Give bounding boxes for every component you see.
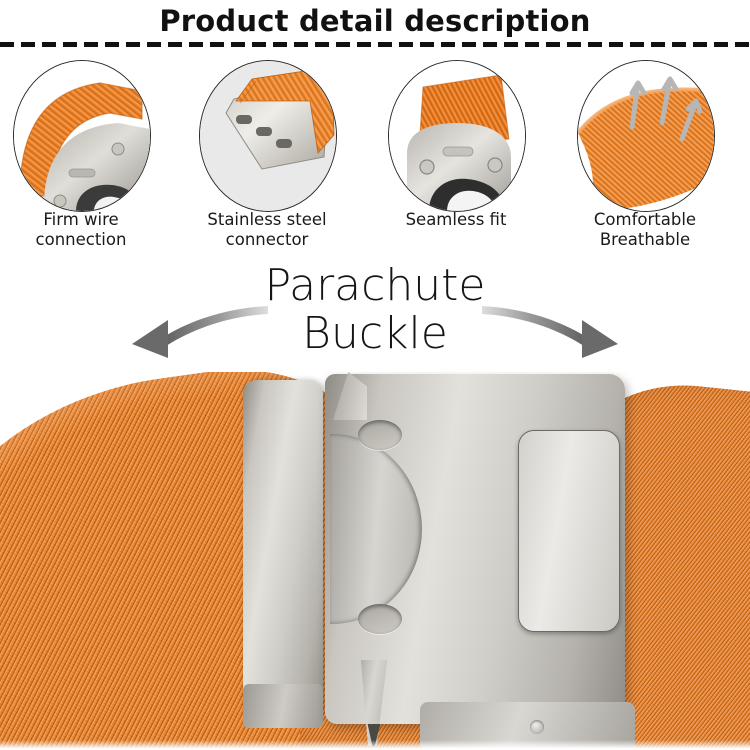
feature-row: Firm wire connection [0,60,750,255]
dashed-divider [0,42,750,47]
buckle-left-bar [243,380,323,720]
feature-item-firm-wire-connection: Firm wire connection [0,60,174,255]
feature-label: Seamless fit [363,210,549,230]
buckle-screw [530,720,544,734]
hero-bottom-fade [0,740,750,750]
product-detail-page: Product detail description [0,0,750,750]
feature-label: Comfortable Breathable [552,210,738,250]
hero-product-photo [0,372,750,750]
feature-item-seamless-fit: Seamless fit [363,60,549,255]
feature-item-comfortable-breathable: Comfortable Breathable [552,60,738,255]
buckle-release-button [518,430,620,632]
buckle-hole-top [358,420,402,450]
breathable-mesh-icon [577,60,715,212]
page-title: Product detail description [0,4,750,38]
feature-item-stainless-steel-connector: Stainless steel connector [174,60,360,255]
feature-label: Firm wire connection [0,210,174,250]
buckle-hole-bottom [358,604,402,634]
stainless-steel-connector-icon [199,60,337,212]
hero-title: Parachute Buckle [0,262,750,358]
buckle-left-foot [243,684,323,728]
seamless-fit-icon [388,60,526,212]
feature-label: Stainless steel connector [174,210,360,250]
firm-wire-connection-icon [13,60,151,212]
